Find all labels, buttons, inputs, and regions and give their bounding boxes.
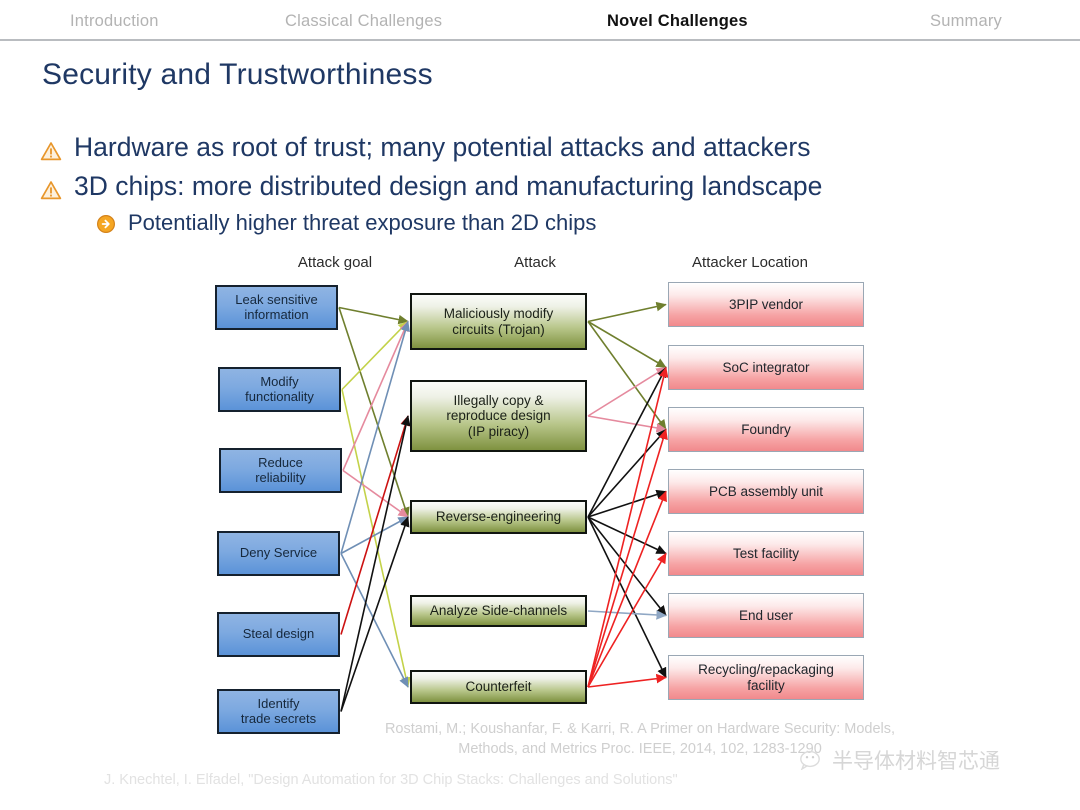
arrow-circle-icon [96, 214, 116, 234]
attack-to-location-edge [588, 305, 666, 322]
goal-to-attack-edge [339, 308, 408, 518]
goal-node-identify-trade-secrets: Identifytrade secrets [217, 689, 340, 734]
page-title: Security and Trustworthiness [42, 58, 433, 92]
goal-node-leak-sensitive-information: Leak sensitiveinformation [215, 285, 338, 330]
watermark-label: 半导体材料智芯通 [832, 745, 1000, 775]
attack-node-reverse-engineering: Reverse-engineering [410, 500, 587, 534]
node-label: Reducereliability [255, 456, 306, 485]
node-label: Analyze Side-channels [430, 603, 567, 618]
node-label: SoC integrator [722, 360, 809, 375]
location-node-pcb-assembly-unit: PCB assembly unit [668, 469, 864, 514]
attack-node-counterfeit: Counterfeit [410, 670, 587, 704]
location-node-foundry: Foundry [668, 407, 864, 452]
bullet-text: Hardware as root of trust; many potentia… [74, 134, 810, 161]
attack-node-illegally-copy-reproduce-design-ip-piracy: Illegally copy &reproduce design(IP pira… [410, 380, 587, 452]
node-label: Identifytrade secrets [241, 697, 316, 726]
goal-node-modify-functionality: Modifyfunctionality [218, 367, 341, 412]
location-node-end-user: End user [668, 593, 864, 638]
goal-node-steal-design: Steal design [217, 612, 340, 657]
goal-to-attack-edge [339, 308, 408, 322]
attack-node-analyze-side-channels: Analyze Side-channels [410, 595, 587, 627]
bullet-item-3: Potentially higher threat exposure than … [96, 212, 596, 234]
attack-to-location-edge [588, 554, 666, 688]
warning-icon [40, 137, 62, 157]
location-node-soc-integrator: SoC integrator [668, 345, 864, 390]
node-label: Leak sensitiveinformation [235, 293, 317, 322]
location-node-recycling-repackaging-facility: Recycling/repackagingfacility [668, 655, 864, 700]
location-node-test-facility: Test facility [668, 531, 864, 576]
attack-to-location-edge [588, 678, 666, 688]
column-header-attack: Attack [415, 254, 655, 271]
node-label: Foundry [741, 422, 791, 437]
node-label: Counterfeit [465, 679, 531, 694]
attack-to-location-edge [588, 430, 666, 688]
attack-to-location-edge [588, 322, 666, 368]
attack-to-location-edge [588, 611, 666, 616]
goal-to-attack-edge [341, 416, 408, 635]
attack-to-location-edge [588, 517, 666, 678]
goal-node-reduce-reliability: Reducereliability [219, 448, 342, 493]
goal-node-deny-service: Deny Service [217, 531, 340, 576]
attack-to-location-edge [588, 368, 666, 688]
attack-to-location-edge [588, 492, 666, 688]
node-label: Test facility [733, 546, 799, 561]
nav-item-classical-challenges[interactable]: Classical Challenges [285, 12, 442, 31]
source-reference-text: J. Knechtel, I. Elfadel, "Design Automat… [104, 772, 804, 788]
nav-item-novel-challenges[interactable]: Novel Challenges [607, 12, 748, 31]
goal-to-attack-edge [341, 517, 408, 712]
node-label: Deny Service [240, 546, 317, 561]
node-label: Steal design [243, 627, 315, 642]
bullet-text: Potentially higher threat exposure than … [128, 212, 596, 234]
node-label: PCB assembly unit [709, 484, 823, 499]
nav-item-summary[interactable]: Summary [930, 12, 1002, 31]
attack-node-maliciously-modify-circuits-trojan: Maliciously modifycircuits (Trojan) [410, 293, 587, 350]
node-label: End user [739, 608, 793, 623]
column-header-attacker-location: Attacker Location [630, 254, 870, 271]
node-label: Recycling/repackagingfacility [698, 662, 834, 692]
slide-nav-bar: IntroductionClassical ChallengesNovel Ch… [0, 0, 1080, 41]
node-label: 3PIP vendor [729, 297, 803, 312]
warning-icon [40, 176, 62, 196]
node-label: Illegally copy &reproduce design(IP pira… [446, 393, 550, 438]
bullet-item-2: 3D chips: more distributed design and ma… [40, 173, 822, 200]
bullet-text: 3D chips: more distributed design and ma… [74, 173, 822, 200]
node-label: Reverse-engineering [436, 509, 561, 524]
node-label: Modifyfunctionality [245, 375, 314, 404]
bullet-item-1: Hardware as root of trust; many potentia… [40, 134, 810, 161]
attack-taxonomy-diagram: Attack goalAttackAttacker Location Leak … [190, 252, 890, 727]
node-label: Maliciously modifycircuits (Trojan) [444, 306, 554, 336]
watermark: 半导体材料智芯通 [800, 745, 1000, 775]
nav-item-introduction[interactable]: Introduction [70, 12, 159, 31]
wechat-logo-icon [800, 750, 826, 770]
attack-to-location-edge [588, 517, 666, 616]
location-node-3pip-vendor: 3PIP vendor [668, 282, 864, 327]
nav-items: IntroductionClassical ChallengesNovel Ch… [0, 4, 1080, 37]
